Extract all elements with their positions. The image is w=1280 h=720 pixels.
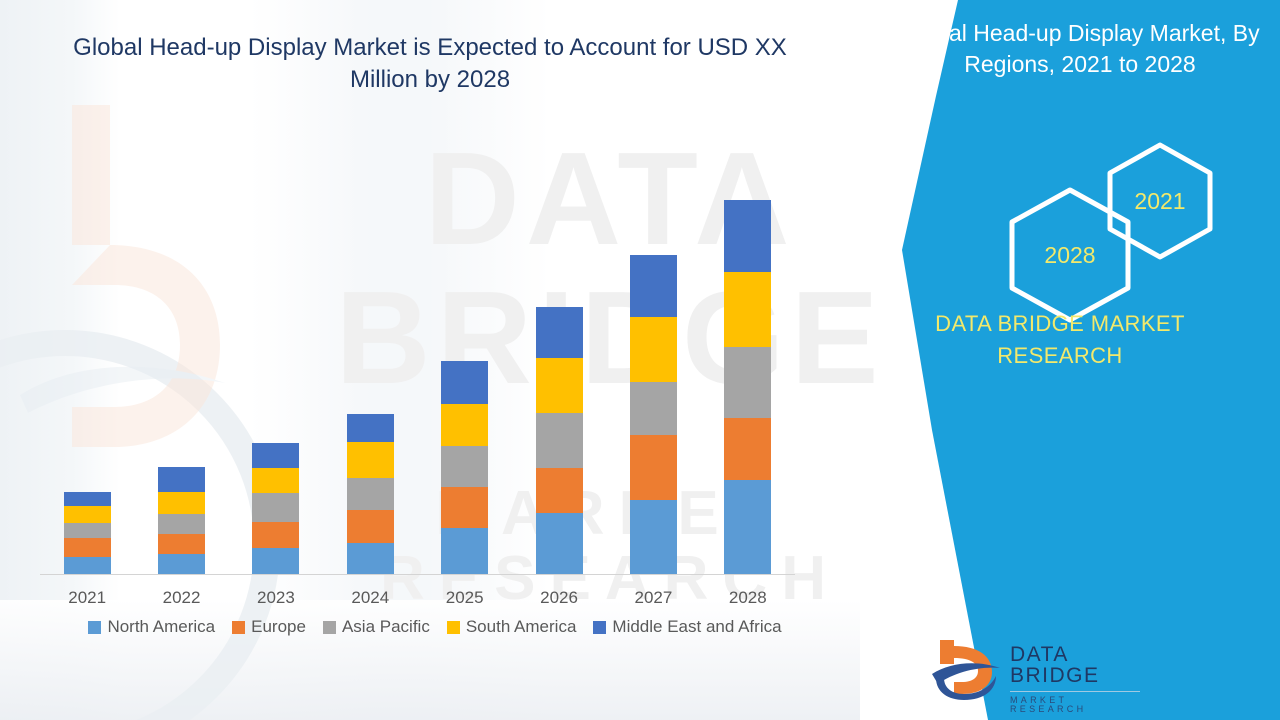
legend-swatch-icon <box>232 621 245 634</box>
chart-x-axis-labels: 20212022202320242025202620272028 <box>40 588 795 608</box>
logo-divider <box>1010 691 1140 692</box>
data-bridge-logo-mark-icon <box>930 634 1004 704</box>
stacked-bar-2024[interactable] <box>347 414 394 574</box>
panel-brand-line-1: DATA BRIDGE MARKET <box>840 308 1280 340</box>
legend-item[interactable]: Asia Pacific <box>323 617 430 637</box>
data-bridge-logo: DATA BRIDGE MARKET RESEARCH <box>930 630 1140 708</box>
bar-segment <box>630 500 677 574</box>
bar-segment <box>347 543 394 574</box>
stacked-bar-2021[interactable] <box>64 492 111 574</box>
legend-swatch-icon <box>88 621 101 634</box>
x-axis-label-2022: 2022 <box>134 588 228 608</box>
x-axis-label-2021: 2021 <box>40 588 134 608</box>
bar-segment <box>64 523 111 538</box>
bar-segment <box>252 443 299 468</box>
panel-brand-line-2: RESEARCH <box>840 340 1280 372</box>
bar-segment <box>630 317 677 382</box>
bar-segment <box>441 446 488 487</box>
bar-segment <box>158 514 205 534</box>
stacked-bar-chart <box>0 150 800 580</box>
bar-segment <box>536 358 583 413</box>
bar-segment <box>724 200 771 272</box>
panel-title: Global Head-up Display Market, By Region… <box>880 18 1280 80</box>
x-axis-label-2023: 2023 <box>229 588 323 608</box>
bar-slot <box>134 150 228 574</box>
bar-slot <box>606 150 700 574</box>
legend-label: Asia Pacific <box>342 617 430 637</box>
bar-segment <box>724 272 771 347</box>
bar-segment <box>64 506 111 523</box>
infographic-root: DATA BRIDGE MARKET RESEARCH Global Head-… <box>0 0 1280 720</box>
logo-name-top: DATA BRIDGE <box>1010 644 1140 686</box>
page-title: Global Head-up Display Market is Expecte… <box>60 32 800 96</box>
x-axis-label-2028: 2028 <box>701 588 795 608</box>
bar-segment <box>536 413 583 468</box>
legend-swatch-icon <box>593 621 606 634</box>
bar-slot <box>512 150 606 574</box>
x-axis-label-2026: 2026 <box>512 588 606 608</box>
bar-slot <box>323 150 417 574</box>
bar-segment <box>347 510 394 543</box>
x-axis-label-2024: 2024 <box>323 588 417 608</box>
stacked-bar-2025[interactable] <box>441 361 488 574</box>
bar-segment <box>536 513 583 574</box>
stacked-bar-2023[interactable] <box>252 443 299 574</box>
bar-slot <box>40 150 134 574</box>
legend-label: Europe <box>251 617 306 637</box>
bar-slot <box>418 150 512 574</box>
bar-segment <box>158 534 205 554</box>
bar-slot <box>229 150 323 574</box>
chart-legend: North AmericaEuropeAsia PacificSouth Ame… <box>40 617 830 637</box>
bar-segment <box>630 382 677 435</box>
bar-segment <box>64 557 111 574</box>
panel-brand-name: DATA BRIDGE MARKET RESEARCH <box>840 308 1280 372</box>
bar-segment <box>441 404 488 446</box>
x-axis-label-2025: 2025 <box>418 588 512 608</box>
legend-label: North America <box>107 617 215 637</box>
data-bridge-logo-text: DATA BRIDGE MARKET RESEARCH <box>1010 644 1140 714</box>
bar-segment <box>724 480 771 574</box>
bar-segment <box>252 468 299 493</box>
x-axis-label-2027: 2027 <box>606 588 700 608</box>
bar-segment <box>630 435 677 500</box>
stacked-bar-2026[interactable] <box>536 307 583 574</box>
stacked-bar-2028[interactable] <box>724 200 771 574</box>
legend-swatch-icon <box>447 621 460 634</box>
hexagon-2021: 2021 <box>1104 140 1216 262</box>
bar-segment <box>441 528 488 574</box>
bar-segment <box>441 487 488 528</box>
hexagon-group: 2028 2021 <box>964 140 1224 310</box>
bar-segment <box>441 361 488 404</box>
bar-slot <box>701 150 795 574</box>
legend-item[interactable]: North America <box>88 617 215 637</box>
hexagon-2021-label: 2021 <box>1104 140 1216 262</box>
bar-segment <box>252 493 299 522</box>
bar-segment <box>724 347 771 418</box>
bar-segment <box>630 255 677 317</box>
stacked-bar-2027[interactable] <box>630 255 677 574</box>
bar-segment <box>64 492 111 506</box>
bar-segment <box>158 554 205 574</box>
legend-label: Middle East and Africa <box>612 617 781 637</box>
bar-segment <box>64 538 111 557</box>
chart-x-axis-line <box>40 574 795 575</box>
legend-item[interactable]: Europe <box>232 617 306 637</box>
bar-segment <box>347 478 394 510</box>
stacked-bar-2022[interactable] <box>158 467 205 574</box>
bar-segment <box>347 414 394 442</box>
chart-plot-area <box>40 150 795 574</box>
bar-segment <box>158 492 205 514</box>
bar-segment <box>724 418 771 480</box>
logo-name-bottom: MARKET RESEARCH <box>1010 696 1140 714</box>
bar-segment <box>252 522 299 548</box>
bar-segment <box>158 467 205 492</box>
legend-item[interactable]: Middle East and Africa <box>593 617 781 637</box>
bar-segment <box>347 442 394 478</box>
bar-segment <box>536 307 583 358</box>
legend-item[interactable]: South America <box>447 617 577 637</box>
bar-segment <box>252 548 299 574</box>
legend-label: South America <box>466 617 577 637</box>
bar-segment <box>536 468 583 513</box>
chart-bars <box>40 150 795 574</box>
legend-swatch-icon <box>323 621 336 634</box>
